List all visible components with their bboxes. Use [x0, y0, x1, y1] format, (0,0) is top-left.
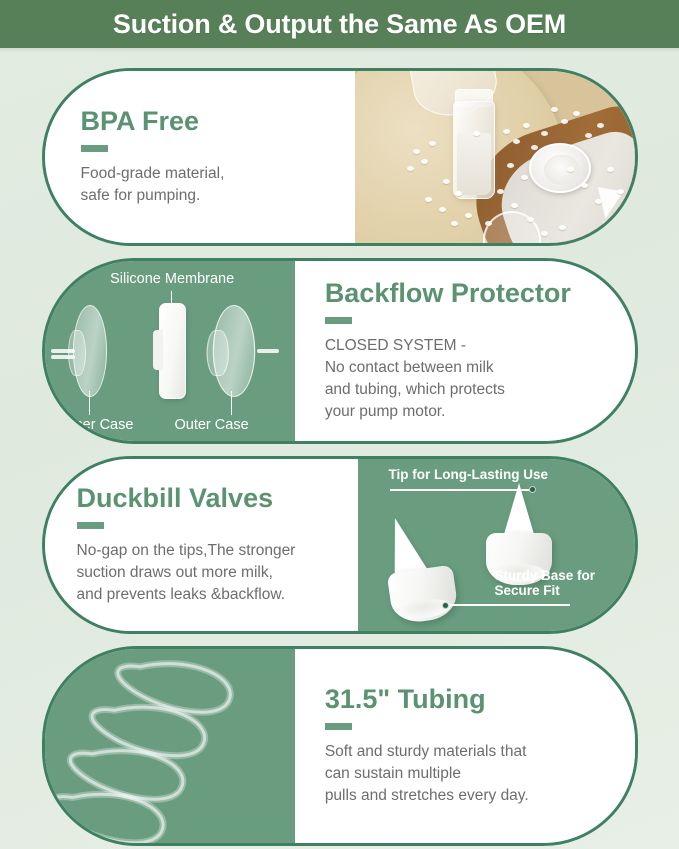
header-banner: Suction & Output the Same As OEM: [0, 0, 679, 48]
art-label-sturdy-base: Sturdy Base for Secure Fit: [494, 568, 595, 599]
leader-line-outer-case: [231, 391, 233, 415]
art-label-inner-case: Inner Case: [63, 417, 134, 433]
card-title: Backflow Protector: [325, 279, 635, 309]
accent-dash: [77, 522, 104, 529]
duckbill-valves-art: Tip for Long-Lasting Use Sturdy Base for…: [358, 459, 634, 631]
accent-dash: [81, 145, 108, 152]
card-text-panel: BPA Free Food-grade material, safe for p…: [45, 71, 355, 243]
feature-card-list: BPA Free Food-grade material, safe for p…: [0, 48, 679, 846]
card-body: CLOSED SYSTEM - No contact between milk …: [325, 335, 635, 423]
backflow-protector-art: Silicone Membrane Inner Case Outer Case: [45, 261, 295, 441]
feature-card-backflow-protector: Silicone Membrane Inner Case Outer Case …: [42, 258, 638, 444]
card-text-panel: 31.5" Tubing Soft and sturdy materials t…: [295, 649, 635, 843]
art-label-silicone-membrane: Silicone Membrane: [110, 271, 234, 287]
leader-line-inner-case: [89, 391, 91, 415]
card-text-panel: Backflow Protector CLOSED SYSTEM - No co…: [295, 261, 635, 441]
feature-card-tubing: 31.5" Tubing Soft and sturdy materials t…: [42, 646, 638, 846]
card-title: 31.5" Tubing: [325, 685, 635, 715]
page-title: Suction & Output the Same As OEM: [113, 9, 566, 40]
plastic-pellets-group: [355, 71, 635, 243]
outer-case-icon: [217, 305, 251, 397]
feature-card-duckbill-valves: Duckbill Valves No-gap on the tips,The s…: [42, 456, 638, 634]
card-title: Duckbill Valves: [77, 484, 359, 514]
art-label-tip-long-lasting: Tip for Long-Lasting Use: [388, 467, 548, 483]
coiled-tubing-icon: [45, 649, 295, 843]
inner-case-icon: [73, 305, 107, 397]
bpa-free-photo: [355, 71, 635, 243]
card-body: No-gap on the tips,The stronger suction …: [77, 540, 359, 606]
card-body: Soft and sturdy materials that can susta…: [325, 741, 635, 807]
card-body: Food-grade material, safe for pumping.: [81, 163, 355, 207]
card-title: BPA Free: [81, 107, 355, 137]
feature-card-bpa-free: BPA Free Food-grade material, safe for p…: [42, 68, 638, 246]
art-label-outer-case: Outer Case: [175, 417, 249, 433]
wood-board-photo: [355, 71, 635, 243]
underline-base-label: [450, 604, 570, 606]
silicone-membrane-icon: [159, 303, 186, 399]
card-text-panel: Duckbill Valves No-gap on the tips,The s…: [45, 459, 359, 631]
tubing-art: [45, 649, 295, 843]
accent-dash: [325, 723, 352, 730]
accent-dash: [325, 317, 352, 324]
